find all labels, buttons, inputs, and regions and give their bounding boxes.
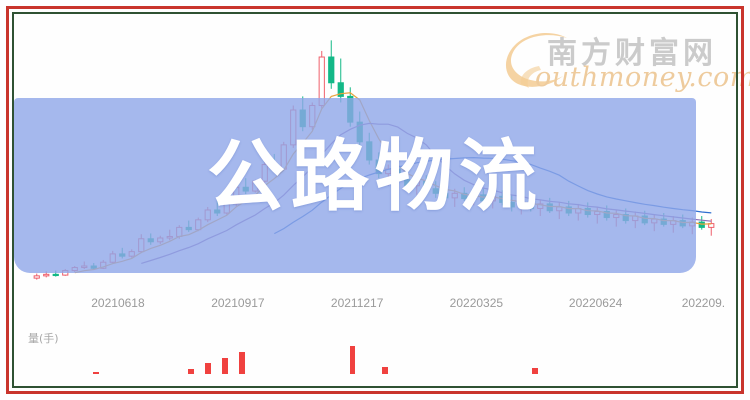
candle-body: [82, 266, 87, 268]
x-tick-label: 20220624: [569, 296, 622, 310]
candle-body: [186, 227, 191, 229]
volume-bar: [382, 367, 388, 374]
x-tick-label: 20210917: [211, 296, 264, 310]
candle-body: [196, 220, 201, 230]
volume-bar: [205, 363, 211, 374]
volume-bar: [532, 368, 538, 374]
candle-body: [177, 227, 182, 236]
x-tick-label: 20211217: [331, 296, 384, 310]
volume-bar: [239, 352, 245, 374]
candle-body: [129, 252, 134, 257]
candle-body: [139, 239, 144, 252]
candle-body: [72, 268, 77, 271]
page-title: 公路物流: [0, 138, 750, 216]
candle-body: [310, 105, 315, 126]
volume-bar: [93, 372, 99, 374]
x-axis-ticks: 2021061820210917202112172022032520220624…: [18, 296, 732, 314]
candle-body: [44, 274, 49, 276]
candle-body: [120, 254, 125, 256]
volume-bar: [222, 358, 228, 375]
candle-body: [642, 216, 647, 223]
candle-body: [53, 274, 58, 275]
candle-body: [148, 239, 153, 242]
watermark-en-text: outhmoney.com: [535, 62, 750, 93]
candle-body: [680, 221, 685, 226]
screenshot-root: 公路物流 20210618202109172021121720220325202…: [0, 0, 750, 400]
candle-body: [91, 266, 96, 268]
candle-body: [34, 276, 39, 278]
volume-axis-label: 量(手): [28, 330, 59, 346]
x-tick-label: 20220325: [450, 296, 503, 310]
candle-body: [699, 222, 704, 227]
candle-body: [63, 271, 68, 276]
candle-body: [110, 254, 115, 262]
volume-chart: [18, 332, 732, 374]
volume-bar: [350, 346, 355, 375]
watermark: 南方财富网 outhmoney.com: [505, 28, 720, 100]
candle-body: [300, 110, 305, 127]
x-tick-label: 20210618: [91, 296, 144, 310]
x-tick-label: 202209.: [682, 296, 725, 310]
candle-body: [652, 219, 657, 223]
candle-body: [319, 57, 324, 105]
candle-body: [329, 57, 334, 83]
volume-bar: [188, 369, 194, 374]
candle-body: [158, 238, 163, 242]
candle-body: [348, 96, 353, 122]
candle-body: [167, 236, 172, 238]
